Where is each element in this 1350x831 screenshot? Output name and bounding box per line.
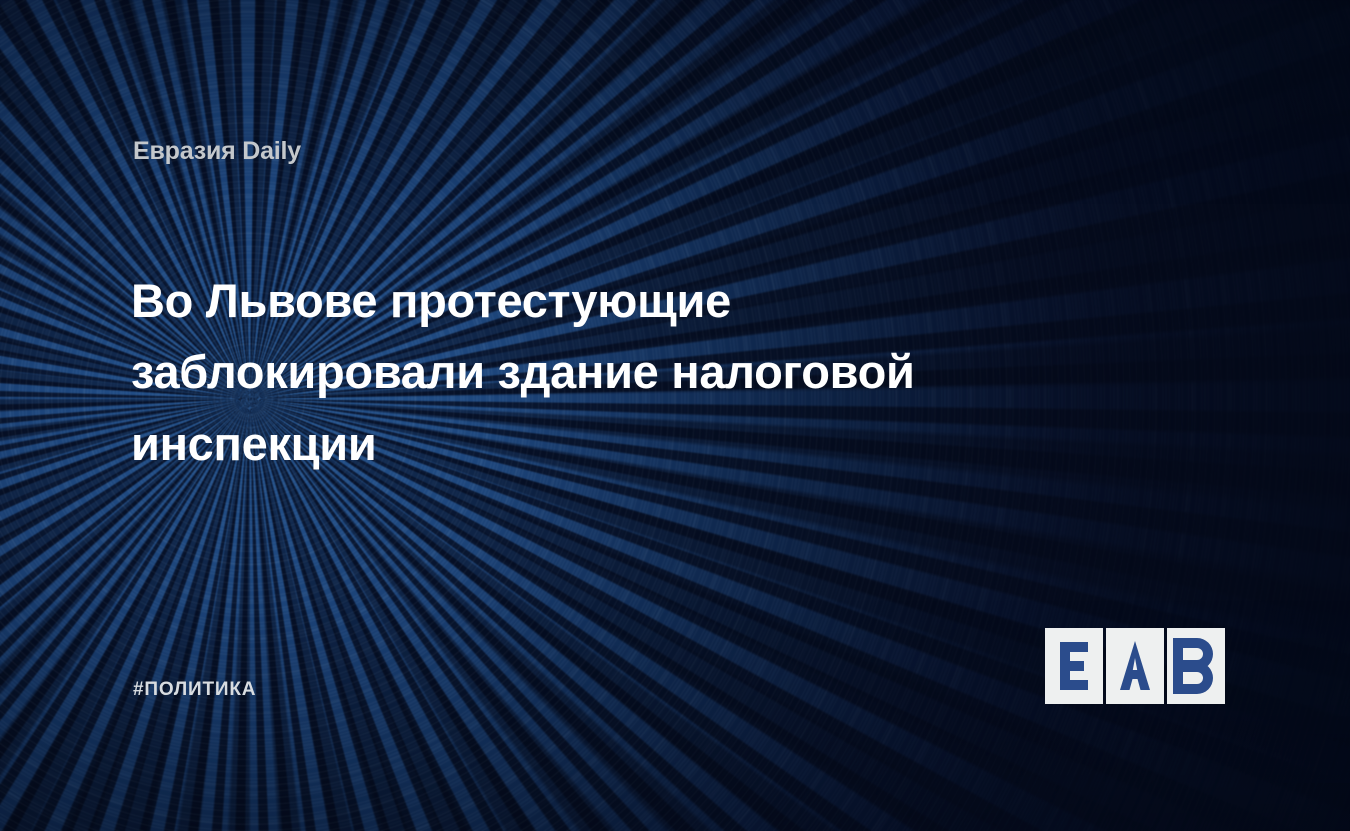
logo-letter-d-icon — [1167, 628, 1225, 704]
brand-name: Евразия Daily — [133, 137, 301, 166]
eadaily-logo[interactable] — [1045, 628, 1227, 704]
article-headline: Во Львове протестующие заблокировали зда… — [131, 265, 1051, 479]
category-tag[interactable]: #ПОЛИТИКА — [133, 679, 256, 701]
eadaily-social-card: Евразия Daily Во Львове протестующие заб… — [0, 0, 1350, 831]
card-content: Евразия Daily Во Львове протестующие заб… — [0, 0, 1350, 831]
logo-letter-a-icon — [1106, 628, 1164, 704]
logo-letter-e-icon — [1045, 628, 1103, 704]
